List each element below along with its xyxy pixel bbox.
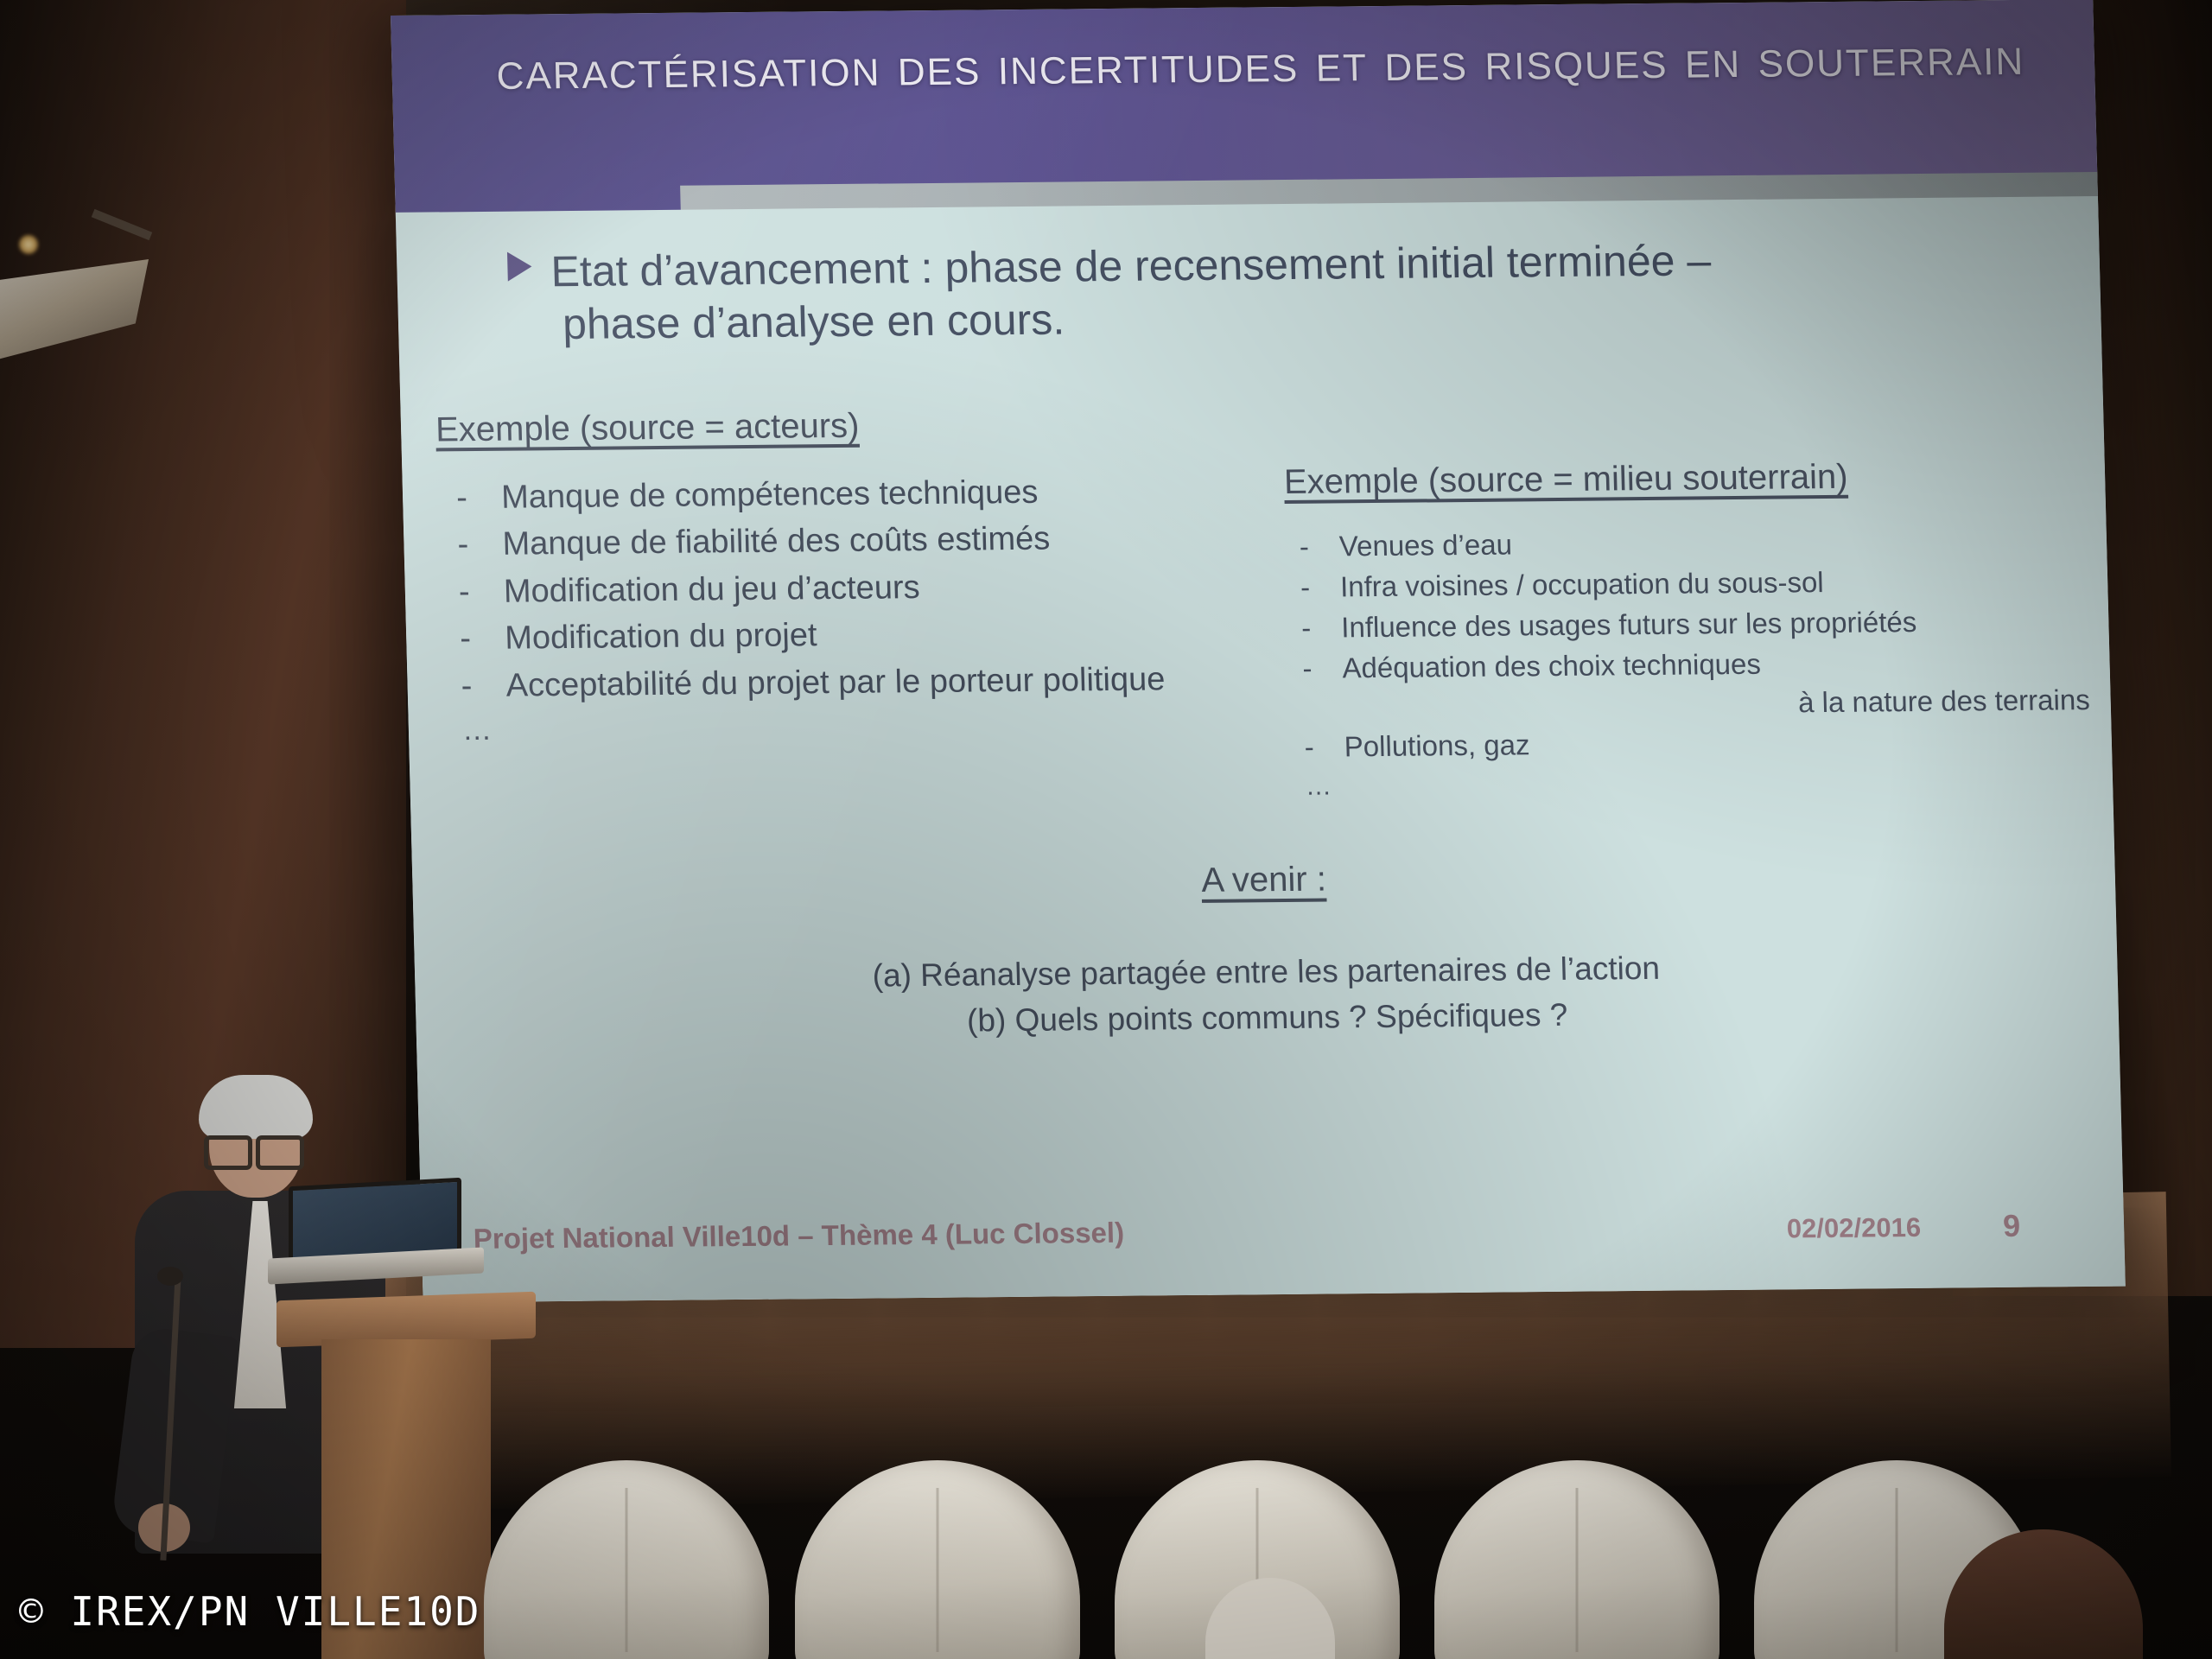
presentation-slide: Caractérisation des incertitudes et des … [391,0,2126,1303]
list-item: Manque de fiabilité des coûts estimés [438,515,1243,568]
lead-bullet: Etat d’avancement : phase de recensement… [507,232,2005,352]
list-item-text: Adéquation des choix techniques [1342,647,1761,683]
left-example-column: Exemple (source = acteurs) Manque de com… [435,404,1248,748]
chair [1434,1460,1719,1659]
lead-line-1: Etat d’avancement : phase de recensement… [550,236,1712,296]
chair [484,1460,769,1659]
speaker-glasses-left-icon [204,1135,252,1170]
right-example-list: Venues d’eau Infra voisines / occupation… [1285,520,2103,767]
speaker-glasses-right-icon [256,1135,304,1170]
chair-seam [937,1488,939,1652]
slide-footer: Projet National Ville10d – Thème 4 (Luc … [421,1207,2125,1284]
copyright-watermark: © IREX/PN VILLE10D [19,1588,481,1635]
list-item: Acceptabilité du projet par le porteur p… [442,656,1246,709]
list-item: Modification du projet [441,609,1245,662]
chair-seam [626,1488,628,1652]
footer-date: 02/02/2016 [1786,1212,1921,1244]
ceiling-light-glow-icon [19,235,38,254]
chair [795,1460,1080,1659]
chair-seam [1896,1488,1898,1652]
list-item: Modification du jeu d’acteurs [439,562,1243,614]
photograph-of-conference-presentation: Caractérisation des incertitudes et des … [0,0,2212,1659]
upcoming-section: A venir : (a) Réanalyse partagée entre l… [412,853,2119,1049]
list-item-continuation: à la nature des terrains [1343,680,2102,726]
list-item: Adéquation des choix techniques à la nat… [1288,642,2102,728]
speaker-hair [199,1075,313,1139]
upcoming-heading: A venir : [412,853,2115,908]
left-example-heading: Exemple (source = acteurs) [435,407,860,450]
list-item: Manque de compétences techniques [436,468,1241,521]
right-example-ellipsis: … [1292,765,2105,802]
left-example-ellipsis: … [442,707,1247,748]
footer-project-label: Projet National Ville10d – Thème 4 (Luc … [473,1217,1124,1255]
triangle-bullet-icon [507,251,532,281]
right-example-heading: Exemple (source = milieu souterrain) [1283,458,1848,502]
microphone-icon [157,1267,183,1286]
chair-seam [1576,1488,1579,1652]
footer-page-number: 9 [2002,1208,2020,1244]
list-item: Influence des usages futurs sur les prop… [1287,601,2101,648]
list-item: Pollutions, gaz [1290,721,2103,767]
list-item: Infra voisines / occupation du sous-sol [1287,561,2100,607]
projection-screen: Caractérisation des incertitudes et des … [391,0,2126,1303]
upcoming-lines: (a) Réanalyse partagée entre les partena… [415,942,2120,1049]
right-example-column: Exemple (source = milieu souterrain) Ven… [1283,455,2104,802]
list-item: Venues d’eau [1285,520,2098,567]
lead-line-2: phase d’analyse en cours. [562,284,2005,351]
left-example-list: Manque de compétences techniques Manque … [436,468,1246,709]
slide-title: Caractérisation des incertitudes et des … [474,17,2048,111]
slide-content: Etat d’avancement : phase de recensement… [396,196,2126,1303]
